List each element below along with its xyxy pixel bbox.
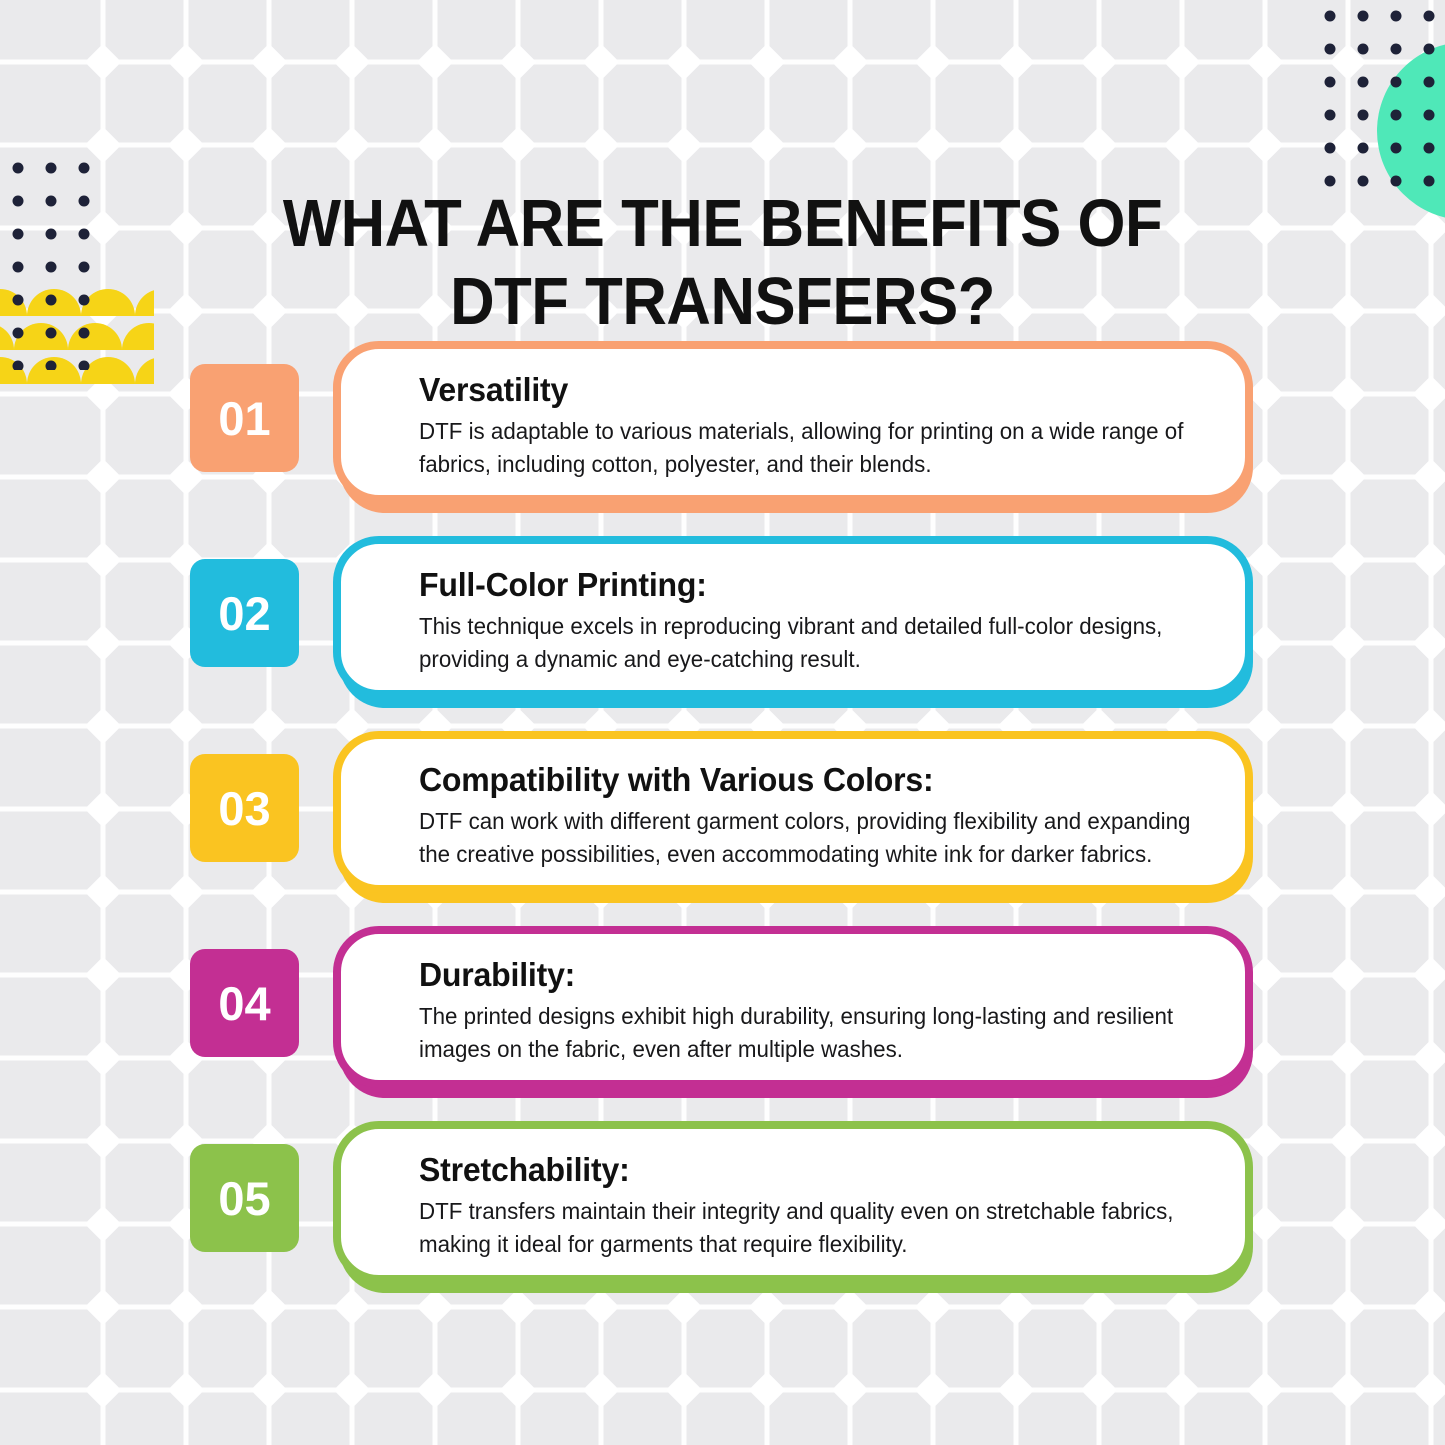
card-number-badge-05: 05 [190, 1144, 299, 1252]
card-number-label: 05 [218, 1175, 270, 1222]
card-heading: Versatility [419, 371, 1187, 409]
card-number-label: 02 [218, 590, 270, 637]
card-body: DTF transfers maintain their integrity a… [419, 1195, 1209, 1261]
benefit-card-05[interactable]: Stretchability: DTF transfers maintain t… [333, 1121, 1253, 1291]
card-surface-04: Durability: The printed designs exhibit … [333, 926, 1253, 1088]
list-item: 05 Stretchability: DTF transfers maintai… [0, 1121, 1445, 1316]
card-surface-03: Compatibility with Various Colors: DTF c… [333, 731, 1253, 893]
card-number-label: 04 [218, 980, 270, 1027]
page-title: WHAT ARE THE BENEFITS OF DTF TRANSFERS? [237, 185, 1208, 341]
card-heading: Durability: [419, 956, 1187, 994]
card-surface-01: Versatility DTF is adaptable to various … [333, 341, 1253, 503]
card-heading: Compatibility with Various Colors: [419, 761, 1187, 799]
card-number-badge-01: 01 [190, 364, 299, 472]
list-item: 04 Durability: The printed designs exhib… [0, 926, 1445, 1121]
card-surface-02: Full-Color Printing: This technique exce… [333, 536, 1253, 698]
card-number-label: 03 [218, 785, 270, 832]
card-body: DTF can work with different garment colo… [419, 805, 1209, 871]
card-body: DTF is adaptable to various materials, a… [419, 415, 1209, 481]
list-item: 02 Full-Color Printing: This technique e… [0, 536, 1445, 731]
benefit-card-03[interactable]: Compatibility with Various Colors: DTF c… [333, 731, 1253, 901]
card-number-label: 01 [218, 395, 270, 442]
card-number-badge-03: 03 [190, 754, 299, 862]
card-number-badge-04: 04 [190, 949, 299, 1057]
card-body: This technique excels in reproducing vib… [419, 610, 1209, 676]
benefit-card-04[interactable]: Durability: The printed designs exhibit … [333, 926, 1253, 1096]
card-heading: Full-Color Printing: [419, 566, 1187, 604]
card-surface-05: Stretchability: DTF transfers maintain t… [333, 1121, 1253, 1283]
list-item: 03 Compatibility with Various Colors: DT… [0, 731, 1445, 926]
infographic-content: WHAT ARE THE BENEFITS OF DTF TRANSFERS? … [0, 0, 1445, 1445]
benefit-card-02[interactable]: Full-Color Printing: This technique exce… [333, 536, 1253, 706]
card-body: The printed designs exhibit high durabil… [419, 1000, 1209, 1066]
list-item: 01 Versatility DTF is adaptable to vario… [0, 341, 1445, 536]
card-number-badge-02: 02 [190, 559, 299, 667]
benefit-card-01[interactable]: Versatility DTF is adaptable to various … [333, 341, 1253, 511]
card-heading: Stretchability: [419, 1151, 1187, 1189]
benefits-list: 01 Versatility DTF is adaptable to vario… [0, 341, 1445, 1316]
